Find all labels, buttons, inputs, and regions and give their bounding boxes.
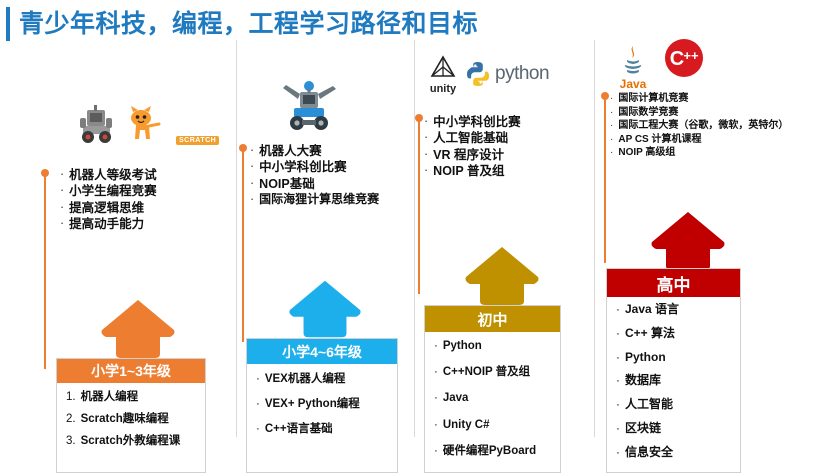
list-marker: 2. — [66, 413, 76, 426]
bullet-icon: · — [250, 144, 254, 158]
lego-robot-logo — [78, 105, 120, 145]
course-item: ·C++语言基础 — [256, 423, 389, 436]
bullet-icon: · — [434, 340, 438, 353]
bullet-icon: · — [256, 423, 260, 436]
stage-column-primary-1-3: SCRATCH ·机器人等级考试 ·小学生编程竞赛 ·提高逻辑思维 ·提高动手能… — [38, 40, 234, 437]
cplusplus-mark-icon: C ++ — [664, 38, 704, 78]
unity-wordmark: unity — [430, 83, 456, 95]
course-item: ·C++ 算法 — [616, 327, 732, 341]
timeline-dot — [601, 92, 609, 100]
course-card: 初中 ·Python ·C++NOIP 普及组 ·Java ·Unity C# … — [424, 305, 561, 473]
goal-item: ·提高动手能力 — [60, 217, 157, 231]
up-arrow-cyan-icon — [286, 278, 364, 340]
stage-header: 小学4~6年级 — [247, 339, 397, 364]
goal-item: ·NOIP 普及组 — [424, 164, 521, 178]
page-title: 青少年科技，编程，工程学习路径和目标 — [6, 6, 478, 42]
course-item: ·VEX机器人编程 — [256, 373, 389, 386]
logo-group — [278, 78, 340, 138]
bullet-icon: · — [434, 392, 438, 405]
bullet-icon: · — [60, 217, 64, 231]
course-card: 小学4~6年级 ·VEX机器人编程 ·VEX+ Python编程 ·C++语言基… — [246, 338, 398, 473]
course-item: ·Python — [616, 351, 732, 365]
course-item: ·Python — [434, 340, 552, 353]
course-card: 小学1~3年级 1.机器人编程 2.Scratch趣味编程 3.Scratch外… — [56, 358, 206, 473]
scratch-cat-logo — [126, 105, 170, 145]
bullet-icon: · — [60, 184, 64, 198]
bullet-icon: · — [616, 422, 620, 436]
stage-column-primary-4-6: ·机器人大赛 ·中小学科创比赛 ·NOIP基础 ·国际海狸计算思维竞赛 小学4~… — [236, 40, 414, 437]
bullet-icon: · — [616, 327, 620, 341]
title-accent-bar — [6, 7, 10, 41]
course-item: ·硬件编程PyBoard — [434, 445, 552, 458]
course-item: 3.Scratch外教编程课 — [66, 435, 197, 448]
bullet-icon: · — [434, 419, 438, 432]
bullet-icon: · — [424, 131, 428, 145]
course-list: ·Python ·C++NOIP 普及组 ·Java ·Unity C# ·硬件… — [425, 332, 560, 476]
stage-column-junior-high: unity python ·中小学科创比赛 ·人工智能基础 ·VR 程序设计 ·… — [414, 40, 594, 437]
goal-item: ·AP CS 计算机课程 — [610, 134, 788, 146]
bullet-icon: · — [424, 164, 428, 178]
timeline-connector — [44, 173, 46, 369]
goal-list: ·中小学科创比赛 ·人工智能基础 ·VR 程序设计 ·NOIP 普及组 — [424, 115, 521, 181]
course-item: ·VEX+ Python编程 — [256, 398, 389, 411]
stage-column-senior-high: Java C ++ ·国际计算机竞赛 ·国际数学竞赛 ·国际工程大赛（谷歌，微软… — [594, 40, 832, 437]
stage-header: 小学1~3年级 — [57, 359, 205, 383]
bullet-icon: · — [616, 374, 620, 388]
goal-item: ·中小学科创比赛 — [424, 115, 521, 129]
logo-group: unity python — [428, 54, 549, 95]
bullet-icon: · — [60, 168, 64, 182]
up-arrow-red-icon — [648, 210, 728, 272]
goal-item: ·机器人大赛 — [250, 144, 379, 158]
course-list: ·VEX机器人编程 ·VEX+ Python编程 ·C++语言基础 — [247, 364, 397, 454]
list-marker: 1. — [66, 391, 76, 404]
timeline-dot — [41, 169, 49, 177]
java-wordmark: Java — [620, 77, 647, 91]
cplusplus-logo: C ++ — [664, 38, 704, 83]
bullet-icon: · — [616, 303, 620, 317]
goal-item: ·中小学科创比赛 — [250, 160, 379, 174]
python-mark-icon — [464, 60, 492, 88]
course-item: 2.Scratch趣味编程 — [66, 413, 197, 426]
bullet-icon: · — [610, 93, 613, 104]
slide-canvas: 青少年科技，编程，工程学习路径和目标 — [0, 0, 832, 437]
unity-logo: unity — [428, 54, 458, 95]
bullet-icon: · — [610, 147, 613, 158]
bullet-icon: · — [616, 446, 620, 460]
goal-list: ·国际计算机竞赛 ·国际数学竞赛 ·国际工程大赛（谷歌，微软，英特尔） ·AP … — [610, 93, 788, 161]
logo-group: Java C ++ — [616, 38, 704, 91]
course-list: 1.机器人编程 2.Scratch趣味编程 3.Scratch外教编程课 — [57, 383, 205, 463]
unity-mark-icon — [428, 54, 458, 84]
course-item: 1.机器人编程 — [66, 391, 197, 404]
bullet-icon: · — [256, 398, 260, 411]
bullet-icon: · — [616, 351, 620, 365]
goal-item: ·提高逻辑思维 — [60, 201, 157, 215]
bullet-icon: · — [250, 160, 254, 174]
goal-item: ·国际海狸计算思维竞赛 — [250, 193, 379, 207]
course-card: 高中 ·Java 语言 ·C++ 算法 ·Python ·数据库 ·人工智能 ·… — [606, 268, 741, 473]
column-divider — [594, 40, 595, 437]
bullet-icon: · — [610, 107, 613, 118]
bullet-icon: · — [434, 445, 438, 458]
title-text: 青少年科技，编程，工程学习路径和目标 — [19, 7, 478, 41]
timeline-connector — [242, 148, 244, 342]
goal-item: ·NOIP基础 — [250, 177, 379, 191]
vex-robot-logo — [278, 78, 340, 138]
course-item: ·Unity C# — [434, 419, 552, 432]
course-item: ·C++NOIP 普及组 — [434, 366, 552, 379]
course-item: ·数据库 — [616, 374, 732, 388]
bullet-icon: · — [250, 177, 254, 191]
goal-item: ·机器人等级考试 — [60, 168, 157, 182]
python-logo: python — [464, 60, 549, 88]
timeline-connector — [418, 118, 420, 294]
up-arrow-gold-icon — [462, 245, 542, 307]
timeline-connector — [604, 96, 606, 263]
goal-item: ·国际计算机竞赛 — [610, 93, 788, 105]
course-item: ·Java 语言 — [616, 303, 732, 317]
column-divider — [414, 40, 415, 437]
java-logo: Java — [616, 44, 650, 91]
bullet-icon: · — [424, 115, 428, 129]
logo-group: SCRATCH — [78, 105, 219, 145]
bullet-icon: · — [250, 193, 254, 207]
stage-header: 初中 — [425, 306, 560, 332]
bullet-icon: · — [424, 148, 428, 162]
course-item: ·人工智能 — [616, 398, 732, 412]
bullet-icon: · — [60, 201, 64, 215]
svg-text:++: ++ — [683, 48, 699, 63]
course-list: ·Java 语言 ·C++ 算法 ·Python ·数据库 ·人工智能 ·区块链… — [607, 297, 740, 475]
python-wordmark: python — [495, 63, 549, 85]
goal-item: ·国际工程大赛（谷歌，微软，英特尔） — [610, 120, 788, 132]
bullet-icon: · — [610, 134, 613, 145]
goal-item: ·VR 程序设计 — [424, 148, 521, 162]
goal-item: ·NOIP 高级组 — [610, 147, 788, 159]
goal-list: ·机器人大赛 ·中小学科创比赛 ·NOIP基础 ·国际海狸计算思维竞赛 — [250, 144, 379, 209]
bullet-icon: · — [616, 398, 620, 412]
up-arrow-orange-icon — [98, 298, 178, 360]
bullet-icon: · — [610, 120, 613, 131]
java-mark-icon — [616, 44, 650, 80]
svg-text:C: C — [670, 48, 684, 70]
list-marker: 3. — [66, 435, 76, 448]
course-item: ·Java — [434, 392, 552, 405]
goal-item: ·小学生编程竞赛 — [60, 184, 157, 198]
course-item: ·区块链 — [616, 422, 732, 436]
column-divider — [236, 40, 237, 437]
timeline-dot — [239, 144, 247, 152]
goal-item: ·人工智能基础 — [424, 131, 521, 145]
goal-list: ·机器人等级考试 ·小学生编程竞赛 ·提高逻辑思维 ·提高动手能力 — [60, 168, 157, 234]
course-item: ·信息安全 — [616, 446, 732, 460]
goal-item: ·国际数学竞赛 — [610, 107, 788, 119]
scratch-wordmark: SCRATCH — [176, 136, 219, 145]
stage-header: 高中 — [607, 269, 740, 297]
bullet-icon: · — [434, 366, 438, 379]
timeline-dot — [415, 114, 423, 122]
bullet-icon: · — [256, 373, 260, 386]
